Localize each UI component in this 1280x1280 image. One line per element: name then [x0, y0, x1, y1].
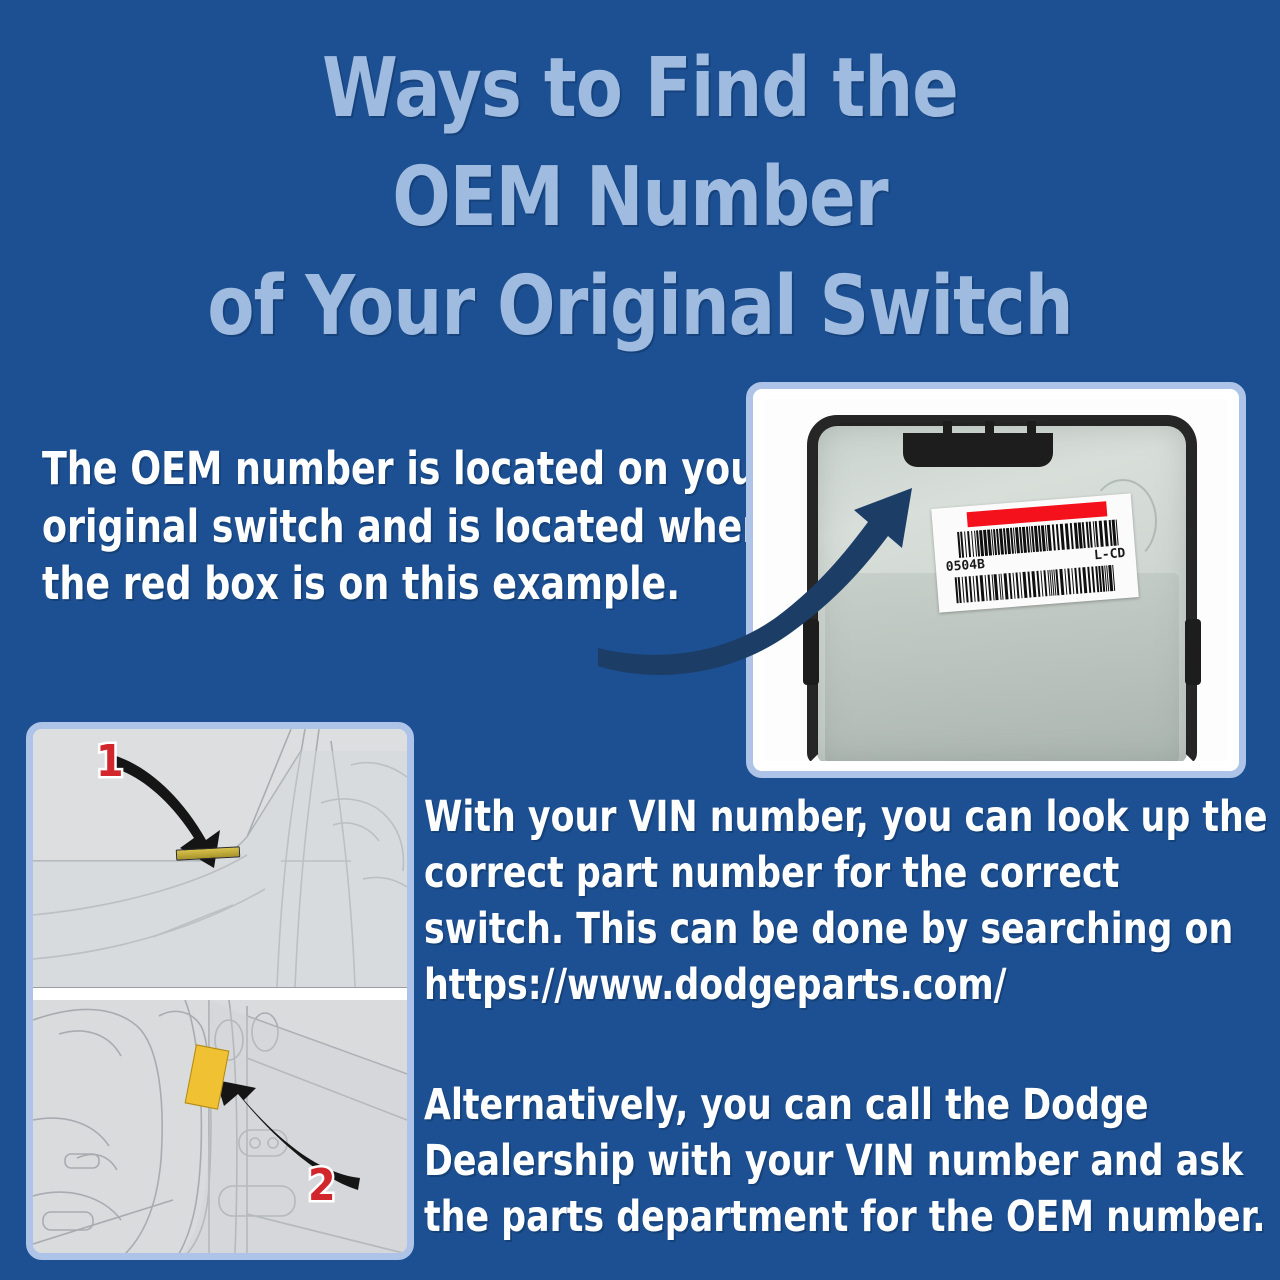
switch-module-body: 0504B L-CD [817, 423, 1187, 761]
title-line-2: OEM Number [45, 143, 1235, 252]
alt-line-3: the parts department for the OEM number. [424, 1190, 1180, 1246]
switch-photo: 0504B L-CD [765, 399, 1227, 761]
module-tab-right [1185, 619, 1201, 685]
vin-line-1: With your VIN number, you can look up th… [424, 790, 1180, 846]
title-line-3: of Your Original Switch [45, 252, 1235, 361]
vin-line-3: switch. This can be done by searching on [424, 902, 1180, 958]
marker-2: 2 [308, 1160, 336, 1211]
module-tab-left [803, 619, 819, 685]
alt-line-1: Alternatively, you can call the Dodge [424, 1078, 1180, 1134]
vin-lookup-paragraph: With your VIN number, you can look up th… [424, 790, 1180, 1014]
intro-line-3: the red box is on this example. [42, 555, 672, 613]
intro-line-1: The OEM number is located on your [42, 440, 672, 498]
dodgeparts-url[interactable]: https://www.dodgeparts.com/ [424, 958, 1180, 1014]
switch-photo-frame: 0504B L-CD [746, 382, 1246, 778]
label-part-code: 0504B [945, 557, 985, 575]
page-title: Ways to Find the OEM Number of Your Orig… [45, 34, 1235, 361]
alt-line-2: Dealership with your VIN number and ask [424, 1134, 1180, 1190]
marker-1: 1 [96, 736, 124, 787]
module-notch [943, 421, 952, 447]
intro-paragraph: The OEM number is located on your origin… [42, 440, 672, 613]
arrow-to-vin-sticker-icon [214, 1078, 364, 1196]
oem-barcode-label: 0504B L-CD [931, 493, 1139, 612]
label-suffix-code: L-CD [1094, 546, 1126, 563]
module-notch [985, 421, 994, 447]
vin-line-2: correct part number for the correct [424, 846, 1180, 902]
dealership-paragraph: Alternatively, you can call the Dodge De… [424, 1078, 1180, 1246]
infographic-page: Ways to Find the OEM Number of Your Orig… [0, 0, 1280, 1280]
title-line-1: Ways to Find the [45, 34, 1235, 143]
module-notch [1027, 421, 1036, 447]
intro-line-2: original switch and is located where [42, 498, 672, 556]
